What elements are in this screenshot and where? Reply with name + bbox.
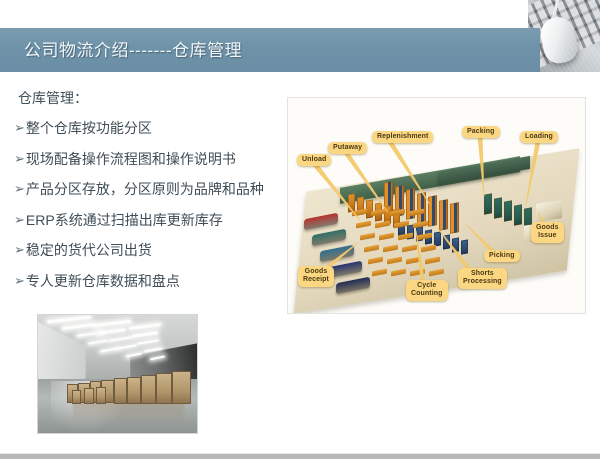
- callout-unload: Unload: [297, 154, 331, 166]
- pick-face-module: [461, 240, 468, 255]
- cardboard-box: [96, 387, 106, 404]
- ceiling-light: [100, 347, 118, 352]
- warehouse-interior-photo: [38, 315, 197, 433]
- ceiling-light: [150, 356, 165, 361]
- cardboard-box: [84, 388, 94, 404]
- arrow-bullet-icon: ➢: [14, 120, 25, 136]
- slide-canvas: 公司物流介绍-------仓库管理 仓库管理： ➢ 整个仓库按功能分区 ➢ 现场…: [0, 0, 600, 459]
- ceiling-light: [62, 323, 94, 330]
- list-item: ➢ 稳定的货代公司出货: [14, 242, 294, 260]
- callout-picking: Picking: [484, 250, 520, 262]
- list-item: ➢ 现场配备操作流程图和操作说明书: [14, 151, 294, 169]
- cardboard-box: [172, 371, 191, 405]
- photo-ceiling-lights: [44, 317, 190, 374]
- cardboard-box: [141, 375, 156, 404]
- warehouse-process-diagram: UnloadPutawayReplenishmentPackingLoading…: [288, 98, 585, 313]
- callout-putaway: Putaway: [328, 142, 367, 154]
- list-item-label: 产品分区存放，分区原则为品牌和品种: [26, 181, 264, 199]
- list-item-label: 稳定的货代公司出货: [26, 242, 152, 260]
- arrow-bullet-icon: ➢: [14, 212, 25, 228]
- content-bullet-list: 仓库管理： ➢ 整个仓库按功能分区 ➢ 现场配备操作流程图和操作说明书 ➢ 产品…: [14, 88, 294, 303]
- cardboard-box: [127, 377, 141, 404]
- list-item: ➢ 专人更新仓库数据和盘点: [14, 273, 294, 291]
- arrow-bullet-icon: ➢: [14, 242, 25, 258]
- packing-station: [514, 204, 522, 226]
- ceiling-light: [117, 344, 136, 349]
- cardboard-box: [72, 390, 82, 404]
- callout-loading: Loading: [520, 131, 558, 143]
- callout-goods-receipt: Goods Receipt: [298, 266, 334, 287]
- callout-goods-issue: Goods Issue: [531, 222, 564, 243]
- cardboard-box: [156, 373, 172, 404]
- list-item: ➢ 整个仓库按功能分区: [14, 120, 294, 138]
- list-item-label: 专人更新仓库数据和盘点: [26, 273, 180, 291]
- ceiling-light: [126, 352, 142, 357]
- packing-station: [484, 193, 492, 215]
- callout-packing: Packing: [462, 126, 500, 138]
- list-item: ➢ 产品分区存放，分区原则为品牌和品种: [14, 181, 294, 199]
- callout-shorts-processing: Shorts Processing: [458, 268, 507, 289]
- callout-cycle-counting: Cycle Counting: [406, 280, 448, 301]
- ceiling-light: [132, 331, 158, 338]
- ceiling-light: [136, 339, 158, 345]
- ceiling-light: [109, 336, 132, 342]
- section-heading: 仓库管理：: [18, 88, 294, 108]
- list-item-label: 整个仓库按功能分区: [26, 120, 152, 138]
- photo-cardboard-boxes: [67, 369, 191, 404]
- racking-row: [439, 199, 448, 231]
- photo-box-reflection: [73, 402, 184, 426]
- slide-bottom-border: [0, 454, 600, 459]
- arrow-bullet-icon: ➢: [14, 181, 25, 197]
- packing-station: [494, 197, 502, 219]
- arrow-bullet-icon: ➢: [14, 273, 25, 289]
- cardboard-box: [114, 378, 128, 403]
- list-item-label: 现场配备操作流程图和操作说明书: [26, 151, 236, 169]
- ceiling-light: [47, 316, 91, 324]
- ceiling-light: [88, 339, 109, 344]
- racking-row: [450, 202, 459, 234]
- arrow-bullet-icon: ➢: [14, 151, 25, 167]
- list-item-label: ERP系统通过扫描出库更新库存: [26, 212, 223, 230]
- page-title: 公司物流介绍-------仓库管理: [24, 36, 242, 61]
- racking-row: [428, 195, 437, 227]
- list-item: ➢ ERP系统通过扫描出库更新库存: [14, 212, 294, 230]
- callout-replenishment: Replenishment: [372, 131, 433, 143]
- ceiling-light: [129, 323, 161, 330]
- packing-station: [504, 200, 512, 222]
- ceiling-light: [93, 320, 131, 327]
- ceiling-light: [144, 347, 162, 352]
- outbound-crate: [536, 200, 562, 222]
